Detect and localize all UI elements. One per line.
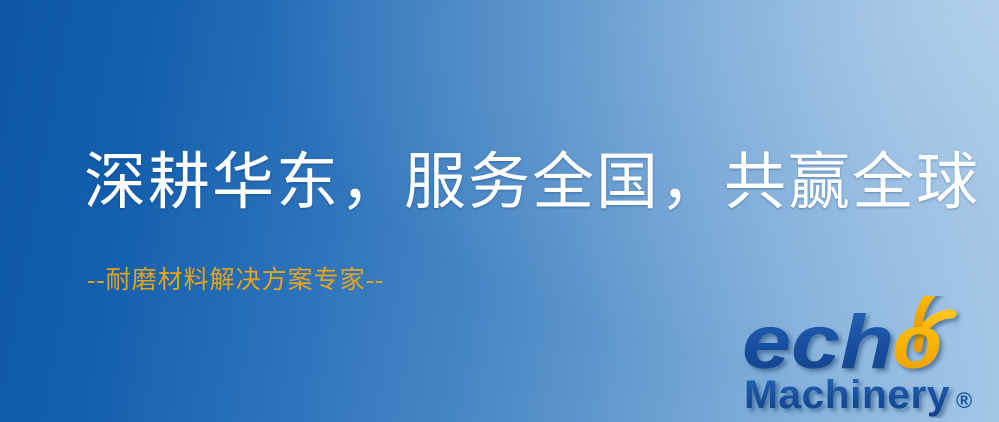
- banner-subtitle: --耐磨材料解决方案专家--: [87, 268, 384, 293]
- banner-headline: 深耕华东，服务全国，共赢全球: [84, 152, 980, 214]
- logo-registered-mark: ®: [956, 388, 972, 413]
- promo-banner: 深耕华东，服务全国，共赢全球 --耐磨材料解决方案专家--: [0, 0, 999, 422]
- logo-tagline-machinery: Machinery: [744, 373, 950, 417]
- echo-machinery-logo[interactable]: ech o Machinery ®: [742, 296, 994, 418]
